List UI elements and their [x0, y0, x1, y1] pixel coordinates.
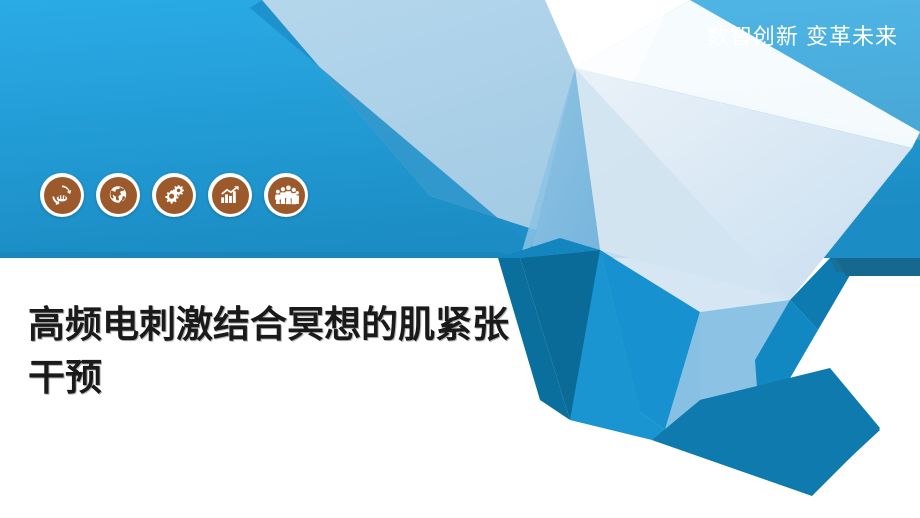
page-title: 高频电刺激结合冥想的肌紧张干预	[28, 298, 528, 405]
globe-icon[interactable]	[96, 173, 140, 217]
polygon-band-sliver	[0, 252, 520, 258]
bar-chart-icon[interactable]	[208, 173, 252, 217]
background-artwork	[0, 0, 920, 518]
gears-icon[interactable]	[152, 173, 196, 217]
gears-icon-disc	[156, 177, 193, 214]
recycle-arrow-icon-disc	[44, 177, 81, 214]
people-group-icon-disc	[268, 177, 305, 214]
bar-chart-icon-disc	[212, 177, 249, 214]
icon-row	[40, 173, 308, 217]
presentation-title-slide: 数智创新 变革未来	[0, 0, 920, 518]
tagline-text: 数智创新 变革未来	[707, 26, 898, 48]
polygon-darkband-right	[836, 258, 920, 276]
globe-icon-disc	[100, 177, 137, 214]
recycle-arrow-icon[interactable]	[40, 173, 84, 217]
people-group-icon[interactable]	[264, 173, 308, 217]
page-title-text: 高频电刺激结合冥想的肌紧张干预	[28, 304, 509, 398]
